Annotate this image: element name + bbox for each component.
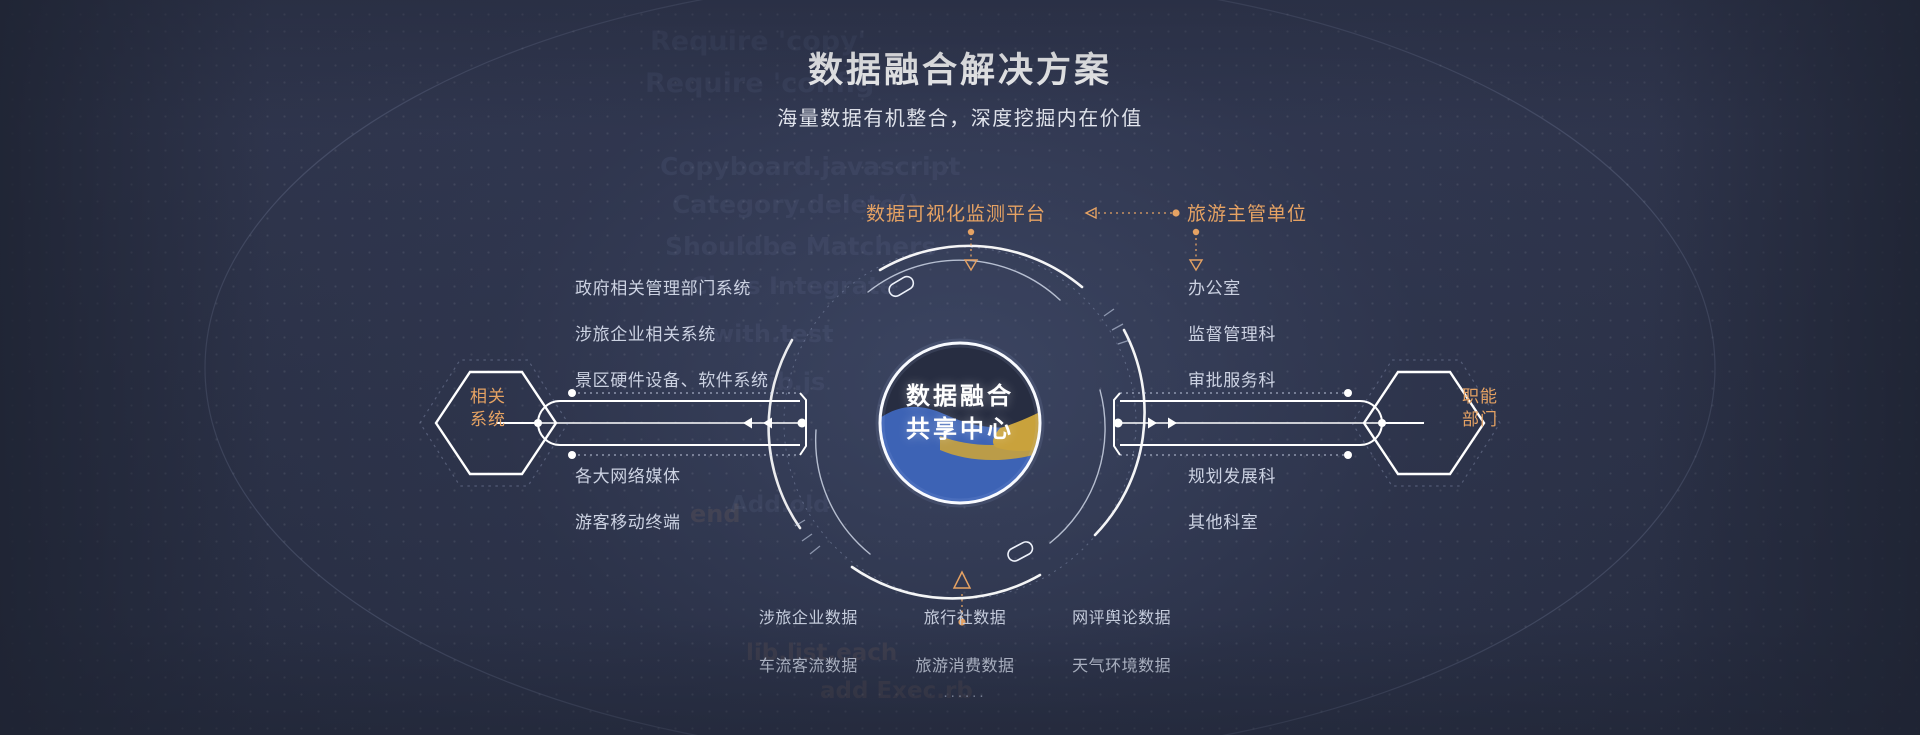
- list-item: 旅游消费数据: [892, 652, 1039, 676]
- list-item: 旅行社数据: [892, 604, 1039, 628]
- bg-code-ghost: lib.js: [760, 368, 825, 396]
- list-item: 规划发展科: [1188, 462, 1276, 487]
- hexagon-left-line1: 相关: [440, 386, 536, 409]
- left-source-list-bottom: 各大网络媒体 游客移动终端: [575, 462, 681, 533]
- bg-code-ghost: end: [690, 500, 741, 528]
- list-item: 车流客流数据: [735, 652, 882, 676]
- list-item: 审批服务科: [1188, 366, 1276, 391]
- right-department-list-bottom: 规划发展科 其他科室: [1188, 462, 1276, 533]
- bottom-ellipsis: ......: [735, 684, 1195, 701]
- page-title: 数据融合解决方案: [0, 42, 1920, 93]
- left-connector-bundle: [496, 389, 807, 459]
- hexagon-right-label[interactable]: 职能 部门: [1432, 386, 1528, 432]
- tag-visualization-platform[interactable]: 数据可视化监测平台: [866, 199, 1046, 226]
- bg-code-ghost: Shouldbe Matchers: [665, 232, 936, 261]
- list-item: 办公室: [1188, 274, 1276, 299]
- list-item: 政府相关管理部门系统: [575, 274, 769, 299]
- bg-code-ghost: Add.old: [730, 492, 830, 518]
- hexagon-right-line1: 职能: [1432, 386, 1528, 409]
- hexagon-left-label[interactable]: 相关 系统: [440, 386, 536, 432]
- list-item: 各大网络媒体: [575, 462, 681, 487]
- list-item: 网评舆论数据: [1048, 604, 1195, 628]
- tag-tourism-authority[interactable]: 旅游主管单位: [1187, 199, 1307, 226]
- right-connector-bundle: [1114, 389, 1425, 459]
- list-item: 涉旅企业相关系统: [575, 320, 769, 345]
- right-department-list-top: 办公室 监督管理科 审批服务科: [1188, 274, 1276, 391]
- list-item: 其他科室: [1188, 508, 1276, 533]
- tag-drop-connector-right: [1190, 229, 1202, 270]
- list-item: 景区硬件设备、软件系统: [575, 366, 769, 391]
- core-label: 数据融合 共享中心: [860, 380, 1060, 446]
- left-source-list-top: 政府相关管理部门系统 涉旅企业相关系统 景区硬件设备、软件系统: [575, 274, 769, 391]
- top-tags-link: [1086, 208, 1180, 218]
- core-label-line1: 数据融合: [860, 380, 1060, 413]
- list-item: 天气环境数据: [1048, 652, 1195, 676]
- hexagon-left-line2: 系统: [440, 409, 536, 432]
- bg-code-ghost: Copyboard.javascript: [660, 152, 960, 181]
- bottom-data-grid: 涉旅企业数据 旅行社数据 网评舆论数据 车流客流数据 旅游消费数据 天气环境数据: [735, 604, 1195, 676]
- hexagon-right-line2: 部门: [1432, 409, 1528, 432]
- list-item: 游客移动终端: [575, 508, 681, 533]
- core-label-line2: 共享中心: [860, 413, 1060, 446]
- page-subtitle: 海量数据有机整合，深度挖掘内在价值: [0, 102, 1920, 131]
- list-item: 监督管理科: [1188, 320, 1276, 345]
- list-item: 涉旅企业数据: [735, 604, 882, 628]
- infographic-canvas: Require 'copy' Require 'config' Copyboar…: [0, 0, 1920, 735]
- tag-drop-connector-left: [965, 229, 977, 270]
